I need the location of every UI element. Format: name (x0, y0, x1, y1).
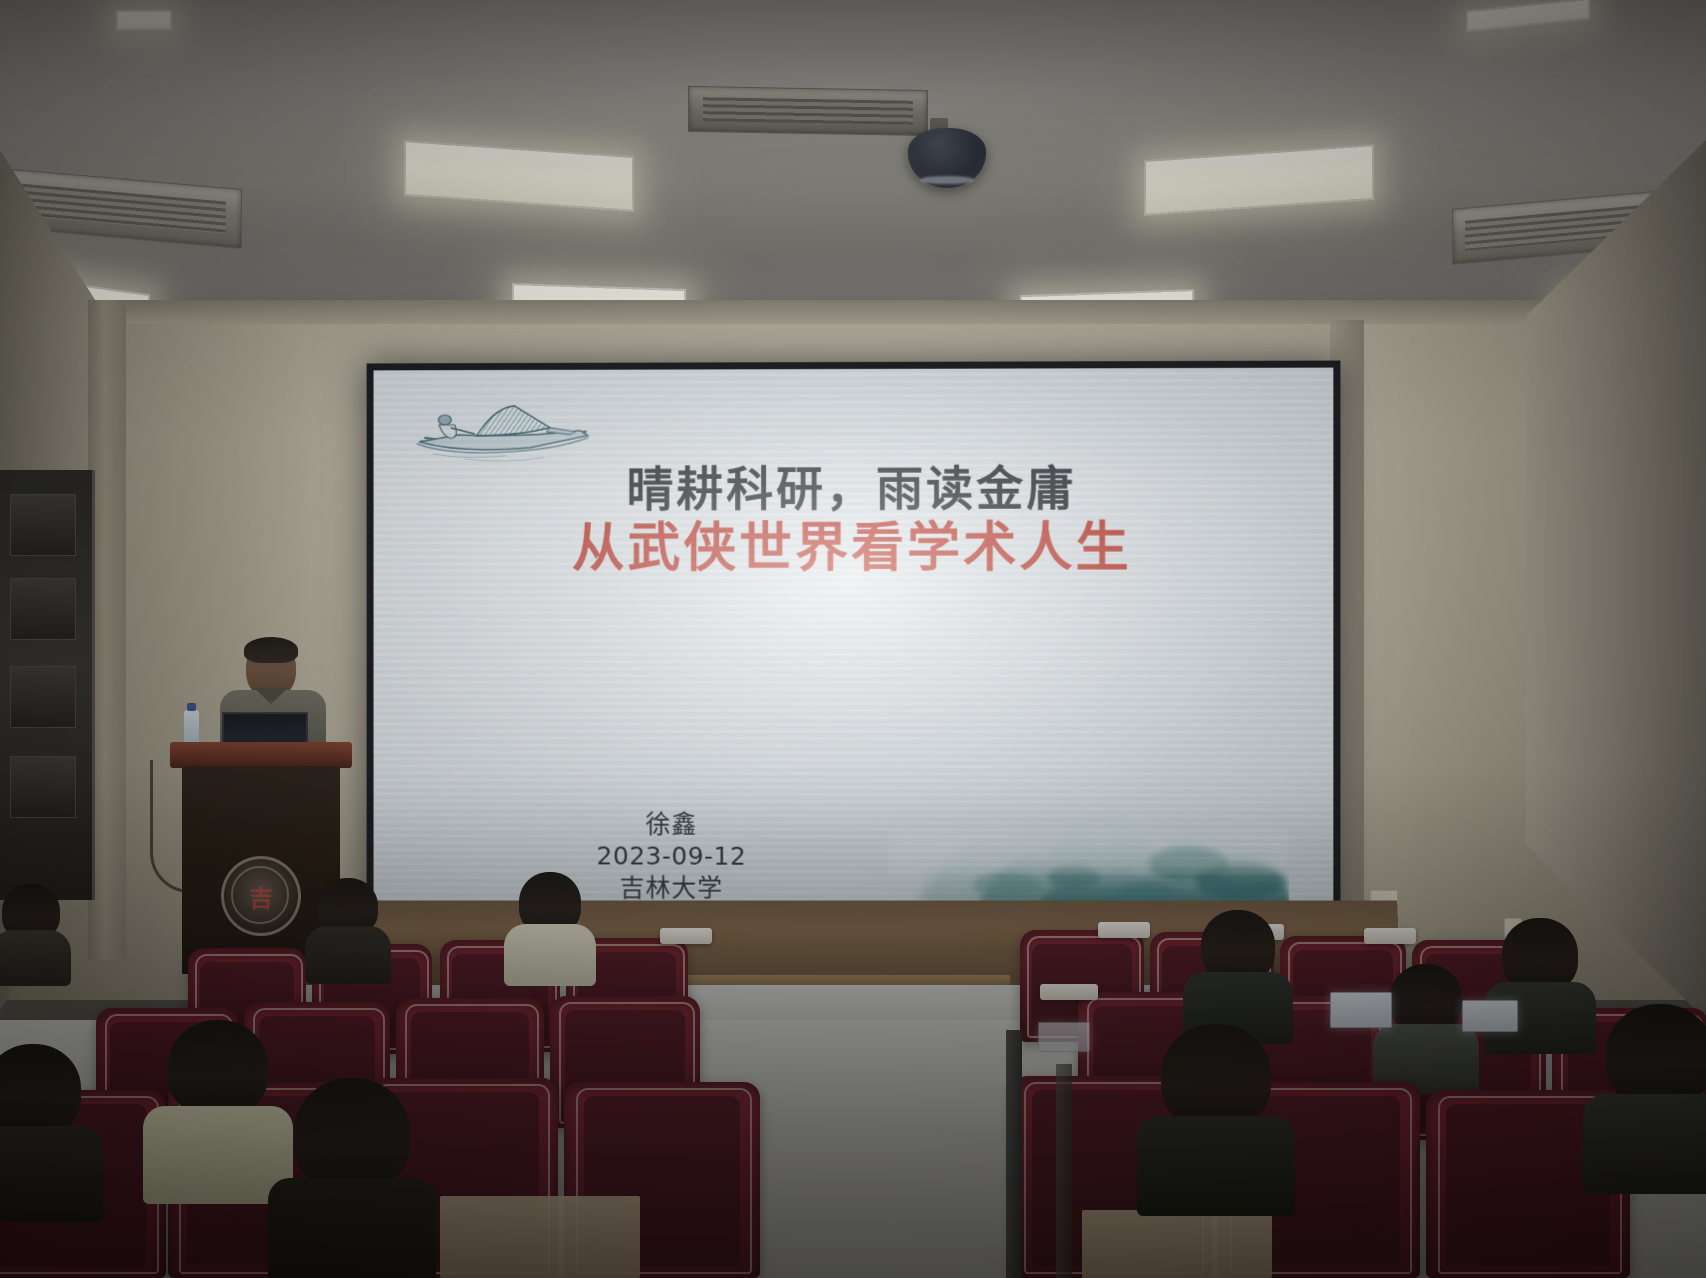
audience-member (0, 1044, 96, 1224)
slide-title-block: 晴耕科研，雨读金庸 从武侠世界看学术人生 (374, 460, 1334, 580)
audience-member (0, 884, 70, 984)
audience-member (1590, 1004, 1706, 1192)
audience-laptop[interactable] (1330, 992, 1392, 1028)
audience-member (506, 872, 594, 982)
slide-title-main: 晴耕科研，雨读金庸 (374, 460, 1334, 519)
audience-member (150, 1020, 286, 1200)
ceiling-light-panel (116, 10, 172, 30)
audience-member (1186, 910, 1290, 1042)
wall-soffit (90, 300, 1620, 324)
university-crest-icon: 吉 (221, 856, 301, 936)
podium-top-surface (170, 742, 352, 768)
seat-tablet-arm[interactable] (1040, 984, 1098, 1000)
audience-member (1376, 964, 1476, 1092)
seat-tablet-arm[interactable] (1098, 922, 1150, 938)
projection-screen: 晴耕科研，雨读金庸 从武侠世界看学术人生 徐鑫 2023-09-12 吉林大学 (367, 361, 1341, 926)
seat-tablet-arm[interactable] (1364, 928, 1416, 944)
audience-member (276, 1078, 428, 1278)
presenter-hair (244, 637, 298, 663)
writing-surface[interactable] (440, 1196, 640, 1278)
slide-date: 2023-09-12 (522, 840, 821, 873)
ink-mountain-icon (887, 735, 1289, 906)
ceiling (0, 0, 1706, 330)
slide-title-sub: 从武侠世界看学术人生 (374, 518, 1334, 580)
slide-speaker-name: 徐鑫 (522, 808, 821, 841)
lecture-hall-photo: 晴耕科研，雨读金庸 从武侠世界看学术人生 徐鑫 2023-09-12 吉林大学 (0, 0, 1706, 1278)
ceiling-vent (688, 86, 928, 136)
audience-laptop[interactable] (1462, 1000, 1518, 1032)
audience-member (306, 878, 390, 982)
slide-canvas: 晴耕科研，雨读金庸 从武侠世界看学术人生 徐鑫 2023-09-12 吉林大学 (374, 368, 1334, 919)
ink-boat-icon (411, 394, 610, 464)
seat-support-post (1006, 1030, 1022, 1278)
audience-laptop[interactable] (1038, 1022, 1090, 1052)
side-door[interactable] (0, 470, 95, 900)
writing-surface[interactable] (1082, 1210, 1272, 1278)
audience-member (1144, 1024, 1288, 1214)
seat-support-post (1056, 1064, 1072, 1278)
seat-tablet-arm[interactable] (660, 928, 712, 944)
